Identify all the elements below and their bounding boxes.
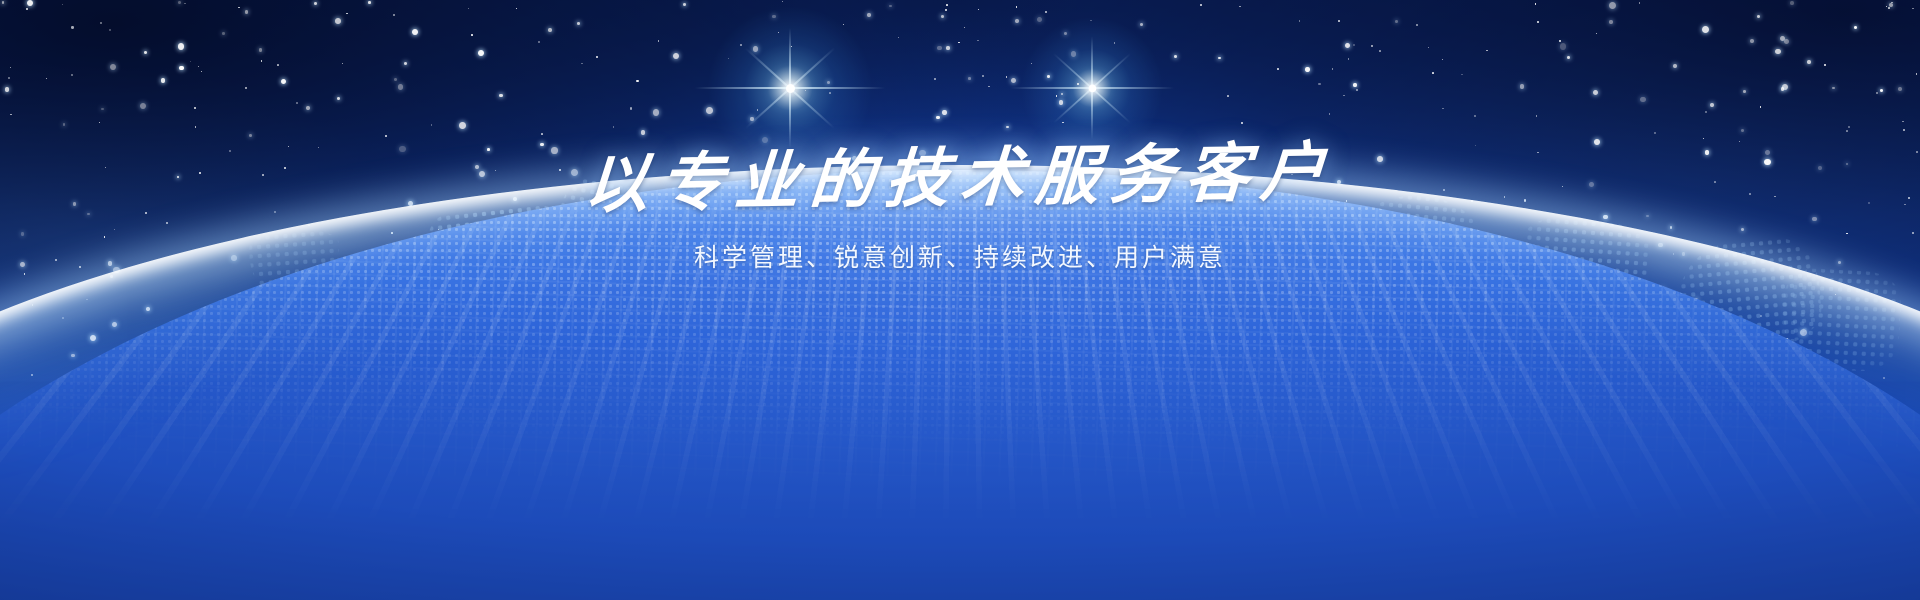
star — [71, 74, 73, 76]
star — [934, 78, 936, 80]
star — [368, 1, 371, 4]
star — [988, 86, 989, 87]
star — [898, 37, 900, 39]
star — [1332, 68, 1333, 69]
star — [968, 77, 971, 80]
star — [261, 60, 262, 61]
star — [1338, 20, 1340, 22]
star — [581, 63, 582, 64]
star — [393, 14, 395, 16]
star — [1876, 92, 1878, 94]
star — [1416, 24, 1418, 26]
star — [1343, 95, 1344, 96]
star — [942, 110, 946, 114]
star — [499, 94, 503, 98]
star — [346, 13, 348, 15]
star — [630, 107, 632, 109]
star — [1442, 108, 1443, 109]
star — [982, 75, 984, 77]
star — [1537, 21, 1539, 23]
star — [1891, 2, 1892, 3]
star — [471, 34, 473, 36]
star — [8, 77, 10, 79]
star — [1379, 50, 1381, 52]
star — [958, 42, 960, 44]
star — [101, 108, 104, 111]
star — [548, 28, 552, 32]
star — [1241, 122, 1243, 124]
star — [26, 8, 28, 10]
star — [1535, 3, 1536, 4]
star — [1353, 44, 1355, 46]
star — [977, 40, 978, 41]
star — [238, 7, 239, 8]
star — [577, 22, 580, 25]
star — [1848, 126, 1850, 128]
star — [1218, 57, 1221, 60]
star — [1832, 87, 1835, 90]
star — [1781, 87, 1785, 91]
star — [1760, 106, 1762, 108]
star — [459, 122, 466, 129]
star — [335, 18, 341, 24]
star — [1912, 8, 1913, 9]
star — [184, 3, 186, 5]
star — [1474, 115, 1476, 117]
star — [1609, 20, 1613, 24]
star — [1609, 2, 1616, 9]
star — [658, 40, 660, 42]
star — [1780, 36, 1785, 41]
star — [1371, 45, 1372, 46]
star — [1318, 83, 1320, 85]
hero-banner: 以专业的技术服务客户 科学管理、锐意创新、持续改进、用户满意 — [0, 0, 1920, 600]
star — [161, 78, 166, 83]
star — [596, 56, 598, 58]
star — [1916, 73, 1917, 74]
star — [538, 41, 540, 43]
star — [46, 78, 47, 79]
star — [945, 9, 947, 11]
headline-block: 以专业的技术服务客户 科学管理、锐意创新、持续改进、用户满意 — [0, 146, 1920, 274]
star — [1898, 87, 1902, 91]
star — [195, 126, 196, 127]
star — [1790, 1, 1794, 5]
star — [1639, 2, 1640, 3]
star — [296, 102, 298, 104]
star — [1784, 39, 1789, 44]
star — [1345, 43, 1350, 48]
star — [541, 133, 543, 135]
star — [179, 66, 184, 71]
star — [194, 107, 196, 109]
star — [936, 116, 939, 119]
star — [394, 78, 397, 81]
star — [683, 3, 687, 7]
star — [653, 109, 660, 116]
star — [1782, 84, 1788, 90]
star — [636, 80, 638, 82]
star — [198, 66, 199, 67]
star — [1536, 115, 1538, 117]
star — [314, 2, 317, 5]
star — [385, 135, 387, 137]
star — [10, 114, 12, 116]
star — [468, 8, 470, 10]
star — [673, 53, 680, 60]
banner-title: 以专业的技术服务客户 — [0, 129, 1920, 228]
star — [281, 79, 287, 85]
star — [1395, 20, 1398, 23]
star — [337, 97, 340, 100]
star — [978, 9, 980, 11]
star — [1520, 84, 1525, 89]
star — [1888, 7, 1890, 9]
star — [1305, 67, 1310, 72]
star — [1486, 50, 1487, 51]
star — [1227, 95, 1229, 97]
star — [100, 22, 102, 24]
star — [144, 51, 148, 55]
star — [140, 103, 146, 109]
star — [178, 1, 181, 4]
star — [1560, 43, 1567, 50]
star — [1353, 83, 1357, 87]
star — [946, 4, 948, 6]
star — [941, 15, 944, 18]
star — [1442, 59, 1443, 60]
star — [249, 134, 252, 137]
star — [613, 126, 615, 128]
star — [201, 71, 202, 72]
star — [964, 27, 966, 29]
star — [1702, 26, 1709, 33]
star — [1757, 15, 1760, 18]
star — [412, 29, 418, 35]
star — [2, 1, 5, 4]
star — [342, 63, 343, 64]
star — [1428, 47, 1430, 49]
star — [946, 46, 950, 50]
star — [63, 123, 66, 126]
star — [245, 10, 249, 14]
star — [1673, 64, 1677, 68]
star — [1902, 121, 1903, 122]
star — [431, 124, 432, 125]
star — [99, 122, 100, 123]
star — [1886, 6, 1888, 8]
banner-subtitle: 科学管理、锐意创新、持续改进、用户满意 — [0, 238, 1920, 274]
star — [398, 84, 403, 89]
star — [1880, 89, 1883, 92]
star — [1593, 90, 1598, 95]
star — [1889, 3, 1893, 7]
star — [1239, 6, 1240, 7]
star — [1329, 113, 1330, 114]
star — [478, 50, 484, 56]
star — [1775, 49, 1781, 55]
star — [1432, 72, 1434, 74]
star — [1299, 20, 1301, 22]
star — [1824, 64, 1825, 65]
star — [516, 8, 517, 9]
star — [109, 29, 111, 31]
star — [1710, 103, 1714, 107]
star — [1461, 74, 1463, 76]
star — [110, 64, 116, 70]
star — [10, 67, 12, 69]
star — [1559, 40, 1560, 41]
star — [1807, 60, 1811, 64]
star — [190, 61, 191, 62]
star — [5, 87, 10, 92]
star — [27, 0, 33, 6]
star — [259, 48, 263, 52]
star — [404, 62, 407, 65]
star — [222, 32, 225, 35]
star — [937, 46, 942, 51]
star — [277, 64, 279, 66]
star — [1567, 56, 1570, 59]
star — [1705, 111, 1707, 113]
star — [1200, 4, 1202, 6]
star — [1277, 68, 1279, 70]
star — [1750, 39, 1754, 43]
star — [1640, 97, 1645, 102]
star — [1596, 33, 1597, 34]
star — [178, 43, 184, 49]
star — [1854, 26, 1858, 30]
star — [71, 26, 73, 28]
star — [62, 4, 63, 5]
star — [245, 87, 246, 88]
star — [1356, 89, 1358, 91]
star — [1348, 58, 1349, 59]
star — [641, 130, 645, 134]
star — [1743, 90, 1746, 93]
star — [306, 106, 310, 110]
